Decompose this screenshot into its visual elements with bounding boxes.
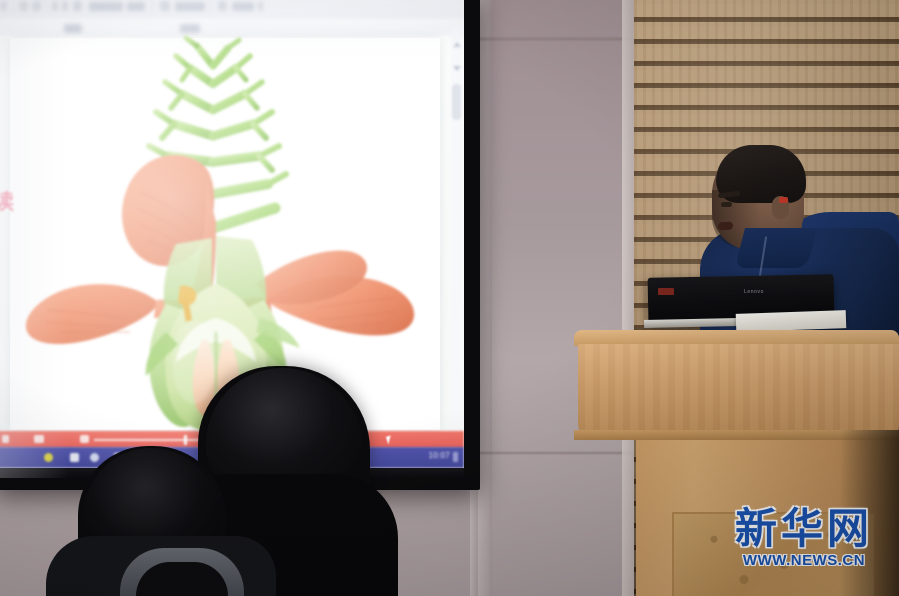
scrollbar-thumb[interactable] [452, 84, 461, 120]
laptop-brand-label: Lenovo [744, 289, 764, 295]
chevron-down-icon[interactable] [258, 1, 263, 11]
scroll-down-icon[interactable] [453, 66, 461, 71]
lecture-hall-photo: 解读 [0, 0, 899, 596]
wall-seam-upper [468, 38, 644, 40]
scroll-up-icon[interactable] [453, 42, 461, 47]
zoom-slider-handle[interactable] [184, 435, 187, 445]
wall-pillar [478, 0, 492, 596]
laptop-logo-icon [658, 288, 674, 295]
toolbar-separator [152, 0, 153, 13]
zoom-out-icon[interactable] [80, 435, 89, 443]
taskbar-app-icon[interactable] [70, 453, 79, 462]
font-name-field[interactable] [89, 2, 123, 11]
share-icon[interactable] [218, 1, 227, 11]
back-icon[interactable] [19, 1, 28, 11]
italic-icon[interactable] [62, 1, 68, 11]
toolbar-separator [210, 0, 211, 13]
insert-icon[interactable] [160, 1, 170, 11]
document-stack [736, 310, 847, 332]
taskbar-clock[interactable]: 10:07 [428, 451, 450, 460]
speaker-eye [721, 202, 732, 207]
page-indicator [2, 435, 9, 443]
taskbar-app-icon[interactable] [44, 453, 53, 462]
toolbar-label[interactable] [175, 2, 205, 11]
slide-scrollbar[interactable] [451, 22, 462, 436]
menu-icon[interactable] [0, 1, 7, 11]
bold-icon[interactable] [52, 1, 58, 11]
view-mode-icon[interactable] [34, 435, 44, 443]
flower-anatomy-diagram [16, 32, 426, 432]
underline-icon[interactable] [73, 1, 82, 11]
speaker-jacket-red-tab [779, 197, 788, 203]
taskbar-app-icon[interactable] [90, 453, 99, 462]
speaker-mouth [718, 221, 734, 230]
podium-shadow [840, 430, 899, 596]
forward-icon[interactable] [32, 1, 41, 11]
toolbar-separator [13, 0, 14, 13]
wall-seam-lower [480, 452, 640, 454]
taskbar-tray-icon[interactable] [453, 452, 458, 462]
podium-front-panel [578, 344, 899, 436]
toolbar-label[interactable] [232, 2, 254, 11]
app-toolbar[interactable] [0, 0, 464, 20]
speaker-jacket-collar [735, 228, 817, 268]
toolbar-separator [46, 0, 47, 13]
font-size-field[interactable] [127, 2, 145, 11]
